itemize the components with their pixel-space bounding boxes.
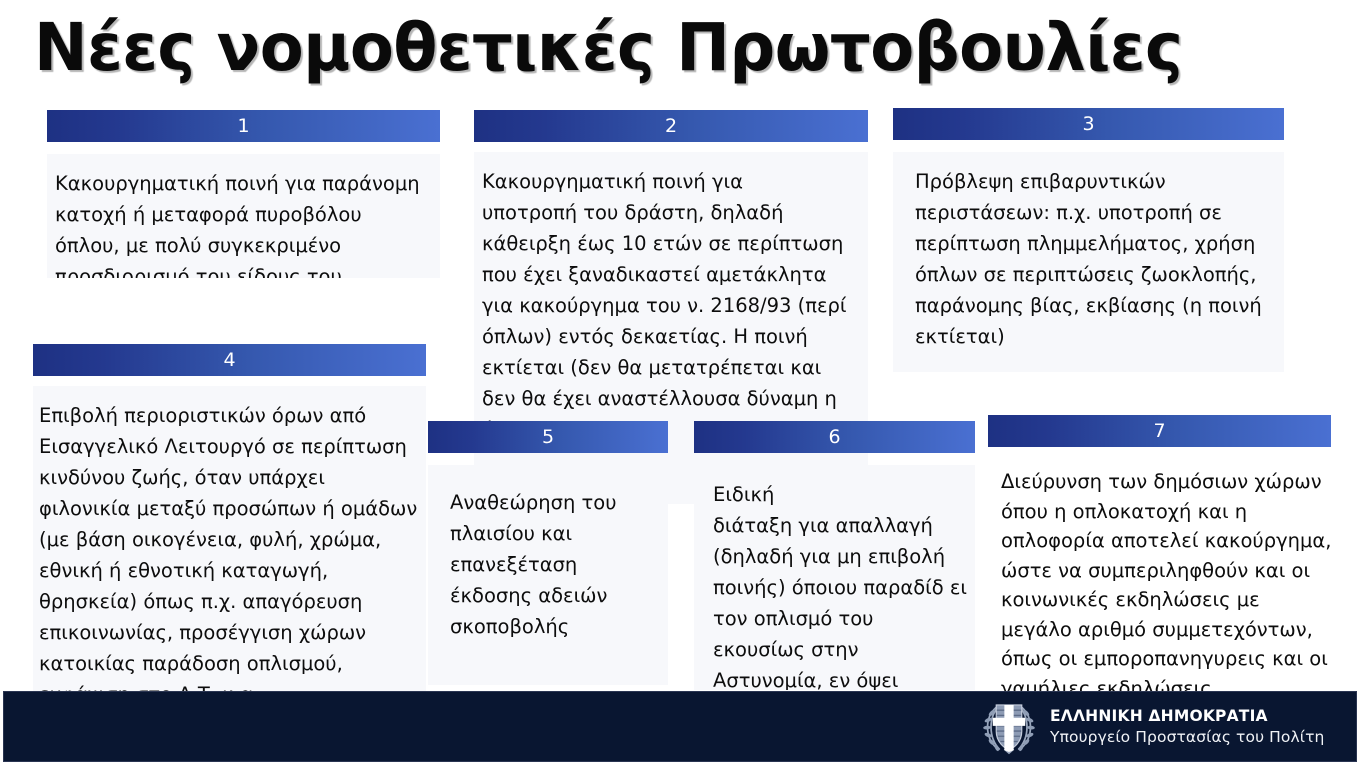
card-number-badge-2: 2	[474, 110, 868, 142]
card-text-6: Ειδική διάταξη για απαλλαγή (δηλαδή για …	[694, 465, 975, 690]
card-number-badge-3: 3	[893, 108, 1284, 140]
card-text-5: Αναθεώρηση του πλαισίου και επανεξέταση …	[428, 465, 668, 685]
footer-text-block: ΕΛΛΗΝΙΚΗ ΔΗΜΟΚΡΑΤΙΑ Υπουργείο Προστασίας…	[1050, 707, 1324, 748]
card-number-badge-1: 1	[47, 110, 440, 142]
card-number-badge-5: 5	[428, 421, 668, 453]
card-text-4: Επιβολή περιοριστικών όρων από Εισαγγελι…	[33, 386, 426, 691]
card-text-3: Πρόβλεψη επιβαρυντικών περιστάσεων: π.χ.…	[893, 152, 1284, 372]
greek-coat-of-arms-icon	[980, 698, 1038, 756]
card-number-badge-6: 6	[694, 421, 975, 453]
card-number-badge-7: 7	[988, 415, 1331, 447]
slide-canvas: Νέες νομοθετικές Πρωτοβουλίες 1 Κακουργη…	[0, 0, 1360, 765]
page-title: Νέες νομοθετικές Πρωτοβουλίες	[34, 2, 1285, 94]
footer-country-label: ΕΛΛΗΝΙΚΗ ΔΗΜΟΚΡΑΤΙΑ	[1050, 707, 1324, 726]
card-number-badge-4: 4	[33, 344, 426, 376]
card-text-7: Διεύρυνση των δημόσιων χώρων όπου η οπλο…	[988, 457, 1340, 697]
footer-branding: ΕΛΛΗΝΙΚΗ ΔΗΜΟΚΡΑΤΙΑ Υπουργείο Προστασίας…	[980, 698, 1324, 756]
footer-ministry-label: Υπουργείο Προστασίας του Πολίτη	[1050, 728, 1324, 747]
card-text-1: Κακουργηματική ποινή για παράνομη κατοχή…	[47, 154, 440, 278]
